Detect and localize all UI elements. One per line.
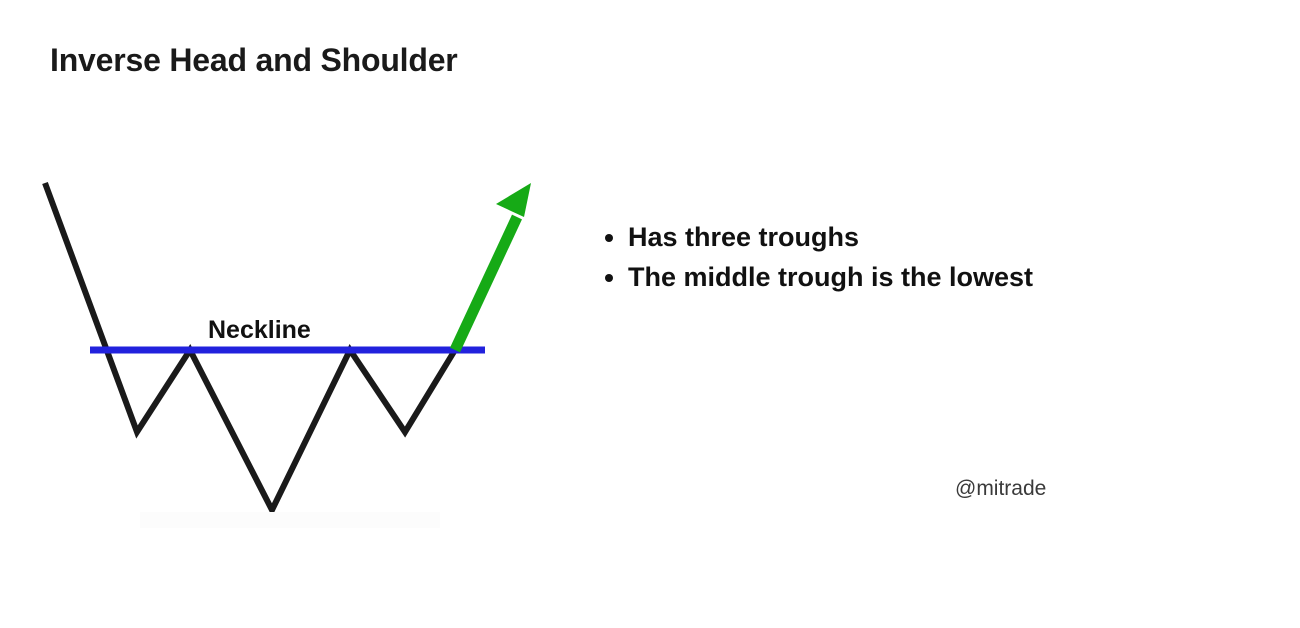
- breakout-arrow-icon: [455, 183, 531, 350]
- neckline-label: Neckline: [208, 316, 311, 345]
- watermark: @mitrade: [955, 477, 1046, 501]
- list-item: Has three troughs: [628, 218, 1108, 256]
- page-title: Inverse Head and Shoulder: [50, 42, 458, 79]
- list-item: The middle trough is the lowest: [628, 258, 1108, 296]
- feature-list: Has three troughs The middle trough is t…: [598, 218, 1108, 299]
- chart-svg: [0, 160, 580, 540]
- pattern-chart: [0, 160, 580, 540]
- chart-bottom-artifact: [140, 512, 440, 528]
